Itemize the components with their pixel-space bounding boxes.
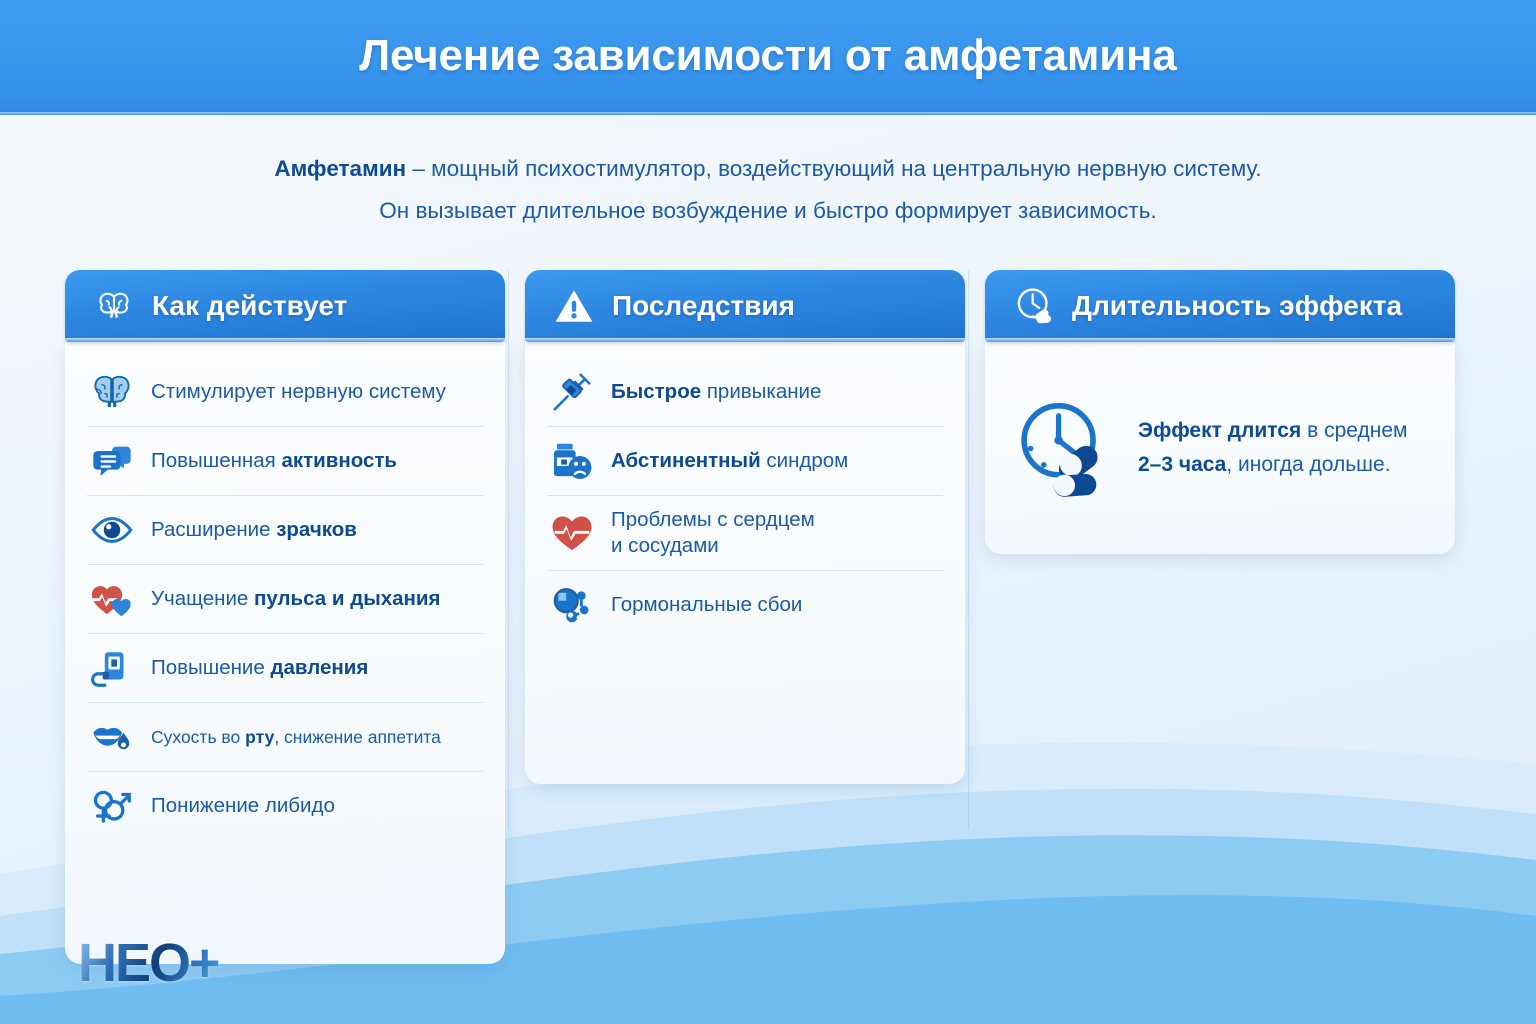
card-title: Как действует bbox=[152, 290, 347, 322]
pill-bottle-sad-face-icon bbox=[549, 438, 595, 484]
heart-pulse-icon bbox=[549, 510, 595, 556]
list-item: Повышенная активность bbox=[87, 426, 483, 495]
card-title: Длительность эффекта bbox=[1072, 290, 1402, 322]
duration-text: Эффект длится в среднем 2–3 часа, иногда… bbox=[1138, 414, 1407, 482]
two-hearts-icon bbox=[89, 576, 135, 622]
warning-triangle-icon bbox=[553, 285, 595, 327]
layout-seam bbox=[508, 270, 509, 830]
list-item-label: Сухость во рту, снижение аппетита bbox=[151, 724, 441, 750]
list-item: Повышение давления bbox=[87, 633, 483, 702]
brain-icon bbox=[93, 285, 135, 327]
list-item: Сухость во рту, снижение аппетита bbox=[87, 702, 483, 771]
gender-symbols-icon bbox=[89, 783, 135, 829]
list-item-label: Стимулирует нервную систему bbox=[151, 379, 446, 405]
brain-icon bbox=[89, 369, 135, 415]
card-effect-duration: Длительность эффекта Эффект длится в сре… bbox=[985, 270, 1455, 554]
page-header: Лечение зависимости от амфетамина bbox=[0, 0, 1536, 115]
card-header: Последствия bbox=[525, 270, 965, 342]
card-header: Как действует bbox=[65, 270, 505, 342]
card-body: Быстрое привыкание Аб bbox=[525, 342, 965, 784]
list-item: Учащение пульса и дыхания bbox=[87, 564, 483, 633]
list-item-label: Повышение давления bbox=[151, 655, 368, 681]
intro-paragraph: Амфетамин – мощный психостимулятор, возд… bbox=[0, 148, 1536, 232]
intro-line1: – мощный психостимулятор, воздействующий… bbox=[406, 156, 1262, 181]
card-body: Эффект длится в среднем 2–3 часа, иногда… bbox=[985, 342, 1455, 554]
list-item: Расширение зрачков bbox=[87, 495, 483, 564]
list-item: Понижение либидо bbox=[87, 771, 483, 840]
clock-pills-icon bbox=[1013, 285, 1055, 327]
infographic-page: Лечение зависимости от амфетамина Амфета… bbox=[0, 0, 1536, 1024]
list-item-label: Расширение зрачков bbox=[151, 517, 357, 543]
list-item-label: Проблемы с сердцем и сосудами bbox=[611, 507, 815, 559]
layout-seam bbox=[968, 270, 969, 830]
brand-logo: НЕО+ bbox=[78, 936, 219, 990]
list-item: Быстрое привыкание bbox=[547, 358, 943, 426]
dry-mouth-icon bbox=[89, 714, 135, 760]
card-title: Последствия bbox=[612, 290, 795, 322]
list-item-label: Быстрое привыкание bbox=[611, 379, 821, 405]
list-item-label: Гормональные сбои bbox=[611, 592, 802, 618]
list-item: Гормональные сбои bbox=[547, 570, 943, 639]
syringe-icon bbox=[549, 369, 595, 415]
clock-pills-large-icon bbox=[1011, 396, 1116, 501]
page-title: Лечение зависимости от амфетамина bbox=[0, 0, 1536, 115]
list-item-label: Учащение пульса и дыхания bbox=[151, 586, 440, 612]
card-how-it-works: Как действует bbox=[65, 270, 505, 964]
card-header: Длительность эффекта bbox=[985, 270, 1455, 342]
eye-icon bbox=[89, 507, 135, 553]
card-body: Стимулирует нервную систему Повышенная а… bbox=[65, 342, 505, 964]
speech-bubbles-icon bbox=[89, 438, 135, 484]
intro-lead-word: Амфетамин bbox=[274, 156, 406, 181]
intro-line2: Он вызывает длительное возбуждение и быс… bbox=[0, 190, 1536, 232]
list-item-label: Абстинентный синдром bbox=[611, 448, 848, 474]
list-item-label: Понижение либидо bbox=[151, 793, 335, 819]
blood-pressure-monitor-icon bbox=[89, 645, 135, 691]
hormones-molecule-icon bbox=[549, 582, 595, 628]
list-item: Стимулирует нервную систему bbox=[87, 358, 483, 426]
card-consequences: Последствия Быстрое п bbox=[525, 270, 965, 784]
list-item: Абстинентный синдром bbox=[547, 426, 943, 495]
list-item-label: Повышенная активность bbox=[151, 448, 397, 474]
list-item: Проблемы с сердцем и сосудами bbox=[547, 495, 943, 570]
